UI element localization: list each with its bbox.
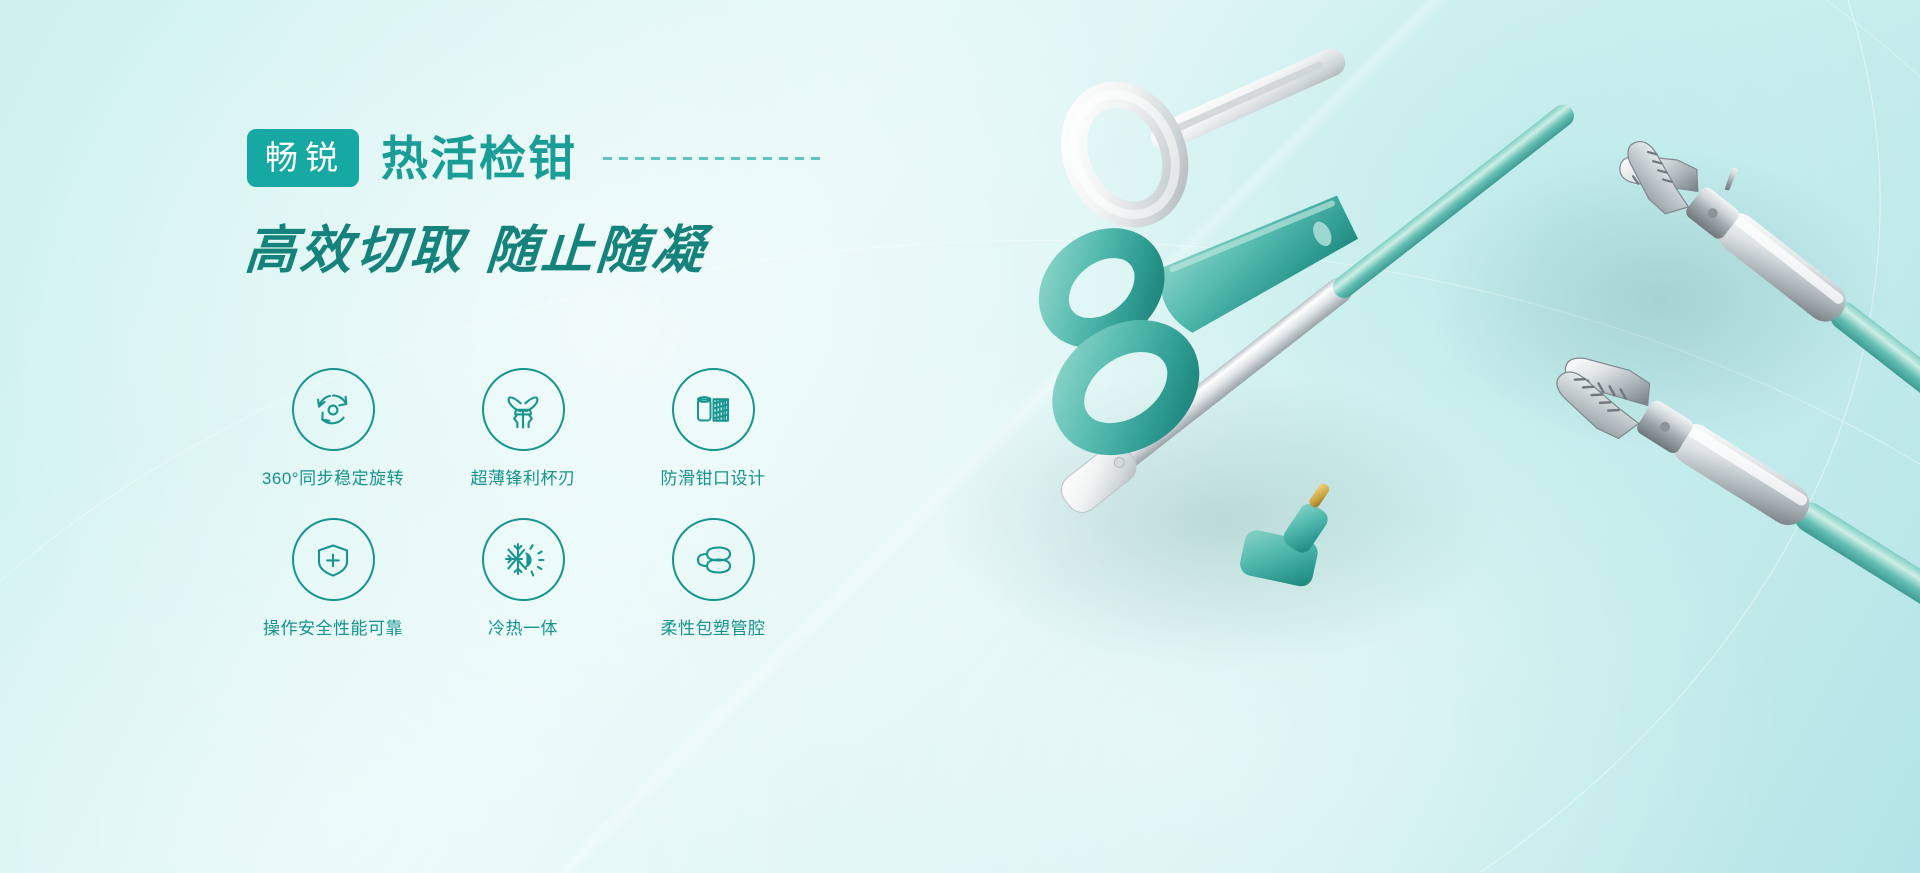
feature-item-lumen: 柔性包塑管腔	[618, 518, 808, 668]
hot-cold-icon	[482, 518, 565, 601]
rotation-360-icon	[292, 368, 375, 451]
banner-text-content: 畅锐 热活检钳 高效切取 随止随凝	[0, 0, 1000, 873]
feature-label: 冷热一体	[488, 620, 558, 637]
product-image-biopsy-forceps	[900, 0, 1920, 873]
feature-item-rotation: 360°同步稳定旋转	[238, 368, 428, 518]
feature-label: 柔性包塑管腔	[661, 620, 766, 637]
sharp-cup-blade-icon	[482, 368, 565, 451]
feature-label: 超薄锋利杯刃	[471, 470, 576, 487]
dotted-rule	[603, 157, 825, 160]
brand-badge: 畅锐	[247, 129, 359, 187]
page-title: 热活检钳	[381, 135, 577, 182]
feature-item-blade: 超薄锋利杯刃	[428, 368, 618, 518]
feature-item-jaw: 防滑钳口设计	[618, 368, 808, 518]
flexible-lumen-icon	[672, 518, 755, 601]
background-glow-right	[890, 0, 1920, 820]
feature-item-hot-cold: 冷热一体	[428, 518, 618, 668]
feature-item-safety: 操作安全性能可靠	[238, 518, 428, 668]
feature-label: 360°同步稳定旋转	[262, 470, 404, 487]
feature-label: 操作安全性能可靠	[263, 620, 403, 637]
title-row: 畅锐 热活检钳	[247, 129, 825, 187]
slogan: 高效切取 随止随凝	[243, 218, 709, 283]
feature-label: 防滑钳口设计	[661, 470, 766, 487]
shield-safety-icon	[292, 518, 375, 601]
feature-grid: 360°同步稳定旋转 超薄锋利杯刃	[238, 368, 808, 668]
anti-slip-jaw-icon	[672, 368, 755, 451]
banner-hero: 畅锐 热活检钳 高效切取 随止随凝	[0, 0, 1920, 873]
